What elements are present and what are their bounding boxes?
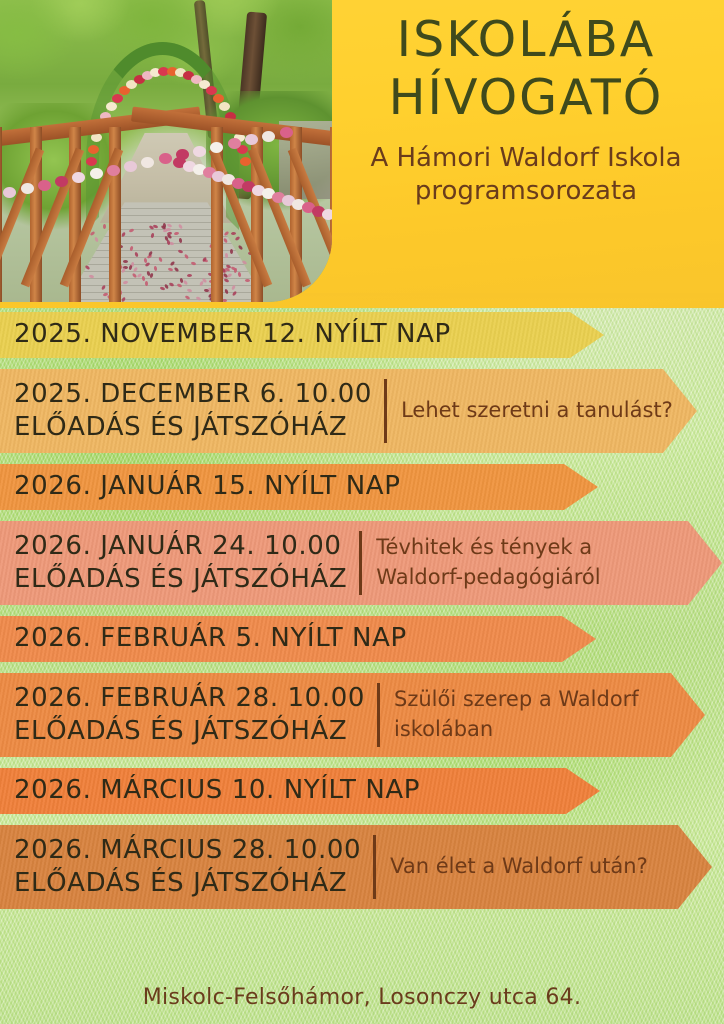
program-description: Szülői szerep a Waldorf iskolában [394,685,694,745]
program-arrow-banner: 2026. FEBRUÁR 5. NYÍLT NAP [0,616,596,662]
program-date-label: 2026. FEBRUÁR 5. NYÍLT NAP [14,625,407,652]
program-arrow-banner: 2026. MÁRCIUS 10. NYÍLT NAP [0,768,600,814]
program-description: Lehet szeretni a tanulást? [401,396,673,426]
program-row[interactable]: 2026. MÁRCIUS 28. 10.00 ELŐADÁS ÉS JÁTSZ… [0,825,724,909]
program-row[interactable]: 2026. JANUÁR 15. NYÍLT NAP [0,464,724,510]
program-date-label: 2026. MÁRCIUS 10. NYÍLT NAP [14,777,420,804]
program-date-label: 2025. DECEMBER 6. 10.00 ELŐADÁS ÉS JÁTSZ… [14,378,372,445]
program-arrow-banner: 2025. DECEMBER 6. 10.00 ELŐADÁS ÉS JÁTSZ… [0,369,697,453]
program-row[interactable]: 2026. JANUÁR 24. 10.00 ELŐADÁS ÉS JÁTSZÓ… [0,521,724,605]
program-date-label: 2026. MÁRCIUS 28. 10.00 ELŐADÁS ÉS JÁTSZ… [14,834,361,901]
poster-title-line1: ISKOLÁBA [336,14,716,66]
program-arrow-banner: 2026. JANUÁR 24. 10.00 ELŐADÁS ÉS JÁTSZÓ… [0,521,722,605]
program-divider [377,683,380,747]
program-row[interactable]: 2025. NOVEMBER 12. NYÍLT NAP [0,312,724,358]
program-row[interactable]: 2025. DECEMBER 6. 10.00 ELŐADÁS ÉS JÁTSZ… [0,369,724,453]
program-divider [359,531,362,595]
program-arrow-banner: 2025. NOVEMBER 12. NYÍLT NAP [0,312,604,358]
program-date-label: 2026. FEBRUÁR 28. 10.00 ELŐADÁS ÉS JÁTSZ… [14,682,365,749]
poster-subtitle: A Hámori Waldorf Iskola programsorozata [336,142,716,209]
program-divider [373,835,376,899]
program-row[interactable]: 2026. FEBRUÁR 5. NYÍLT NAP [0,616,724,662]
program-description: Tévhitek és tények a Waldorf-pedagógiáró… [376,533,676,593]
photo-railing-left [0,127,166,302]
title-group: ISKOLÁBA HÍVOGATÓ A Hámori Waldorf Iskol… [336,14,716,208]
program-date-label: 2025. NOVEMBER 12. NYÍLT NAP [14,321,451,348]
program-row[interactable]: 2026. FEBRUÁR 28. 10.00 ELŐADÁS ÉS JÁTSZ… [0,673,724,757]
program-row[interactable]: 2026. MÁRCIUS 10. NYÍLT NAP [0,768,724,814]
program-divider [384,379,387,443]
program-arrow-banner: 2026. MÁRCIUS 28. 10.00 ELŐADÁS ÉS JÁTSZ… [0,825,712,909]
footer-address: Miskolc-Felsőhámor, Losonczy utca 64. [0,985,724,1010]
program-description: Van élet a Waldorf után? [390,852,648,882]
program-date-label: 2026. JANUÁR 24. 10.00 ELŐADÁS ÉS JÁTSZÓ… [14,530,347,597]
poster-canvas: ISKOLÁBA HÍVOGATÓ A Hámori Waldorf Iskol… [0,0,724,1024]
bridge-photo [0,0,332,302]
program-date-label: 2026. JANUÁR 15. NYÍLT NAP [14,473,400,500]
poster-header: ISKOLÁBA HÍVOGATÓ A Hámori Waldorf Iskol… [0,0,724,308]
poster-title-line2: HÍVOGATÓ [336,72,716,124]
photo-railing-right [166,127,332,302]
program-arrow-banner: 2026. FEBRUÁR 28. 10.00 ELŐADÁS ÉS JÁTSZ… [0,673,705,757]
program-arrow-banner: 2026. JANUÁR 15. NYÍLT NAP [0,464,598,510]
program-list: 2025. NOVEMBER 12. NYÍLT NAP2025. DECEMB… [0,312,724,920]
